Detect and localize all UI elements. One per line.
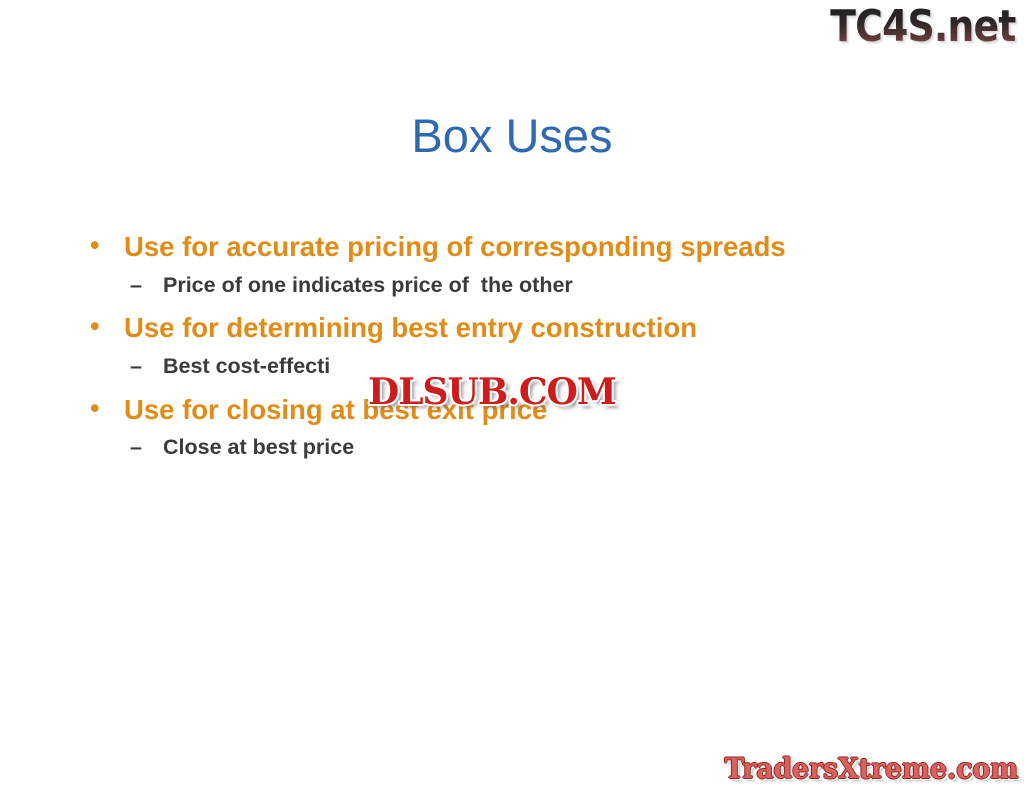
bullet-dot-icon: • [90, 394, 99, 423]
bullet-dot-icon: • [90, 312, 99, 341]
dash-bullet-icon: – [130, 355, 142, 379]
dash-bullet-icon: – [130, 436, 142, 460]
bullet-level2-text: Best cost-effecti [163, 354, 330, 378]
page-title: Box Uses [0, 108, 1024, 163]
dlsub-watermark: DLSUB.COM [368, 372, 616, 412]
tradersxtreme-watermark: TradersXtreme.com [724, 753, 1018, 785]
bullet-group-2: •Use for determining best entry construc… [72, 313, 972, 378]
bullet-level2: –Close at best price [72, 436, 972, 460]
dash-bullet-icon: – [130, 274, 142, 298]
slide-canvas: TC4S.net TC4S.net Box Uses •Use for accu… [0, 0, 1024, 791]
bullet-dot-icon: • [90, 231, 99, 260]
bullet-level1: •Use for determining best entry construc… [72, 313, 972, 343]
bullet-level2: –Price of one indicates price of the oth… [72, 274, 972, 298]
bullet-level1: •Use for accurate pricing of correspondi… [72, 232, 972, 262]
bullet-level1-text: Use for determining best entry construct… [124, 312, 697, 343]
bullet-level2-text: Price of one indicates price of the othe… [163, 273, 573, 297]
bullet-group-1: •Use for accurate pricing of correspondi… [72, 232, 972, 297]
brand-logo: TC4S.net [831, 2, 1016, 52]
bullet-level1-text: Use for accurate pricing of correspondin… [124, 231, 786, 262]
slide-body: •Use for accurate pricing of correspondi… [72, 232, 972, 476]
bullet-level2-text: Close at best price [163, 435, 354, 459]
